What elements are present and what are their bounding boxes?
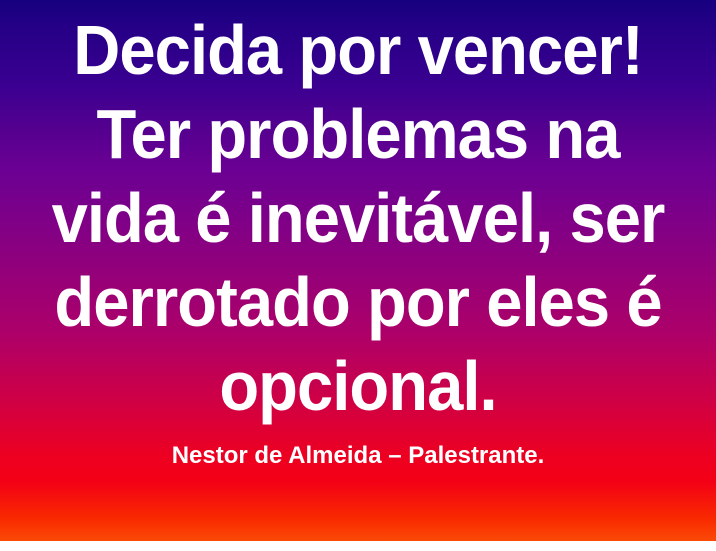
quote-line-3: vida é inevitável, ser: [25, 176, 691, 260]
quote-text-block: Decida por vencer! Ter problemas na vida…: [0, 8, 716, 428]
quote-line-2: Ter problemas na: [25, 92, 691, 176]
quote-line-5: opcional.: [25, 344, 691, 428]
quote-slide: Decida por vencer! Ter problemas na vida…: [0, 0, 716, 551]
slide-content: Decida por vencer! Ter problemas na vida…: [0, 0, 716, 551]
quote-attribution: Nestor de Almeida – Palestrante.: [0, 441, 716, 471]
quote-line-1: Decida por vencer!: [25, 8, 691, 92]
quote-line-4: derrotado por eles é: [25, 260, 691, 344]
